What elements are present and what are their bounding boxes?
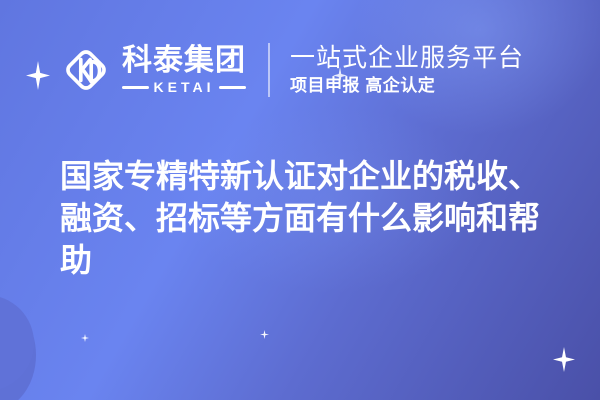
decorative-circle-left [0,295,34,391]
tagline-secondary: 项目申报 高企认定 [290,75,524,97]
brand-lockup[interactable]: 科泰集团 KETAI [60,44,246,96]
promo-banner: 科泰集团 KETAI 一站式企业服务平台 项目申报 高企认定 国家专精特新认证对… [0,0,600,400]
brand-latin-row: KETAI [122,80,246,95]
sparkle-icon-header-left [26,61,50,90]
brand-text-block: 科泰集团 KETAI [122,45,246,95]
article-headline: 国家专精特新认证对企业的税收、融资、招标等方面有什么影响和帮助 [60,155,568,281]
decorative-circle-left-inner [0,300,36,400]
latin-rule-left [122,86,149,89]
brand-latin-name: KETAI [154,80,215,95]
sparkle-dot-icon-center [260,330,269,339]
ketai-diamond-monogram-icon [60,44,112,96]
banner-header: 科泰集团 KETAI 一站式企业服务平台 项目申报 高企认定 [0,0,600,140]
latin-rule-right [219,86,246,89]
header-divider [268,43,270,97]
brand-name: 科泰集团 [122,45,246,77]
sparkle-dot-icon-left [81,334,89,342]
header-taglines: 一站式企业服务平台 项目申报 高企认定 [290,43,524,97]
tagline-primary: 一站式企业服务平台 [290,43,524,73]
sparkle-icon-bottom-right [553,347,575,372]
